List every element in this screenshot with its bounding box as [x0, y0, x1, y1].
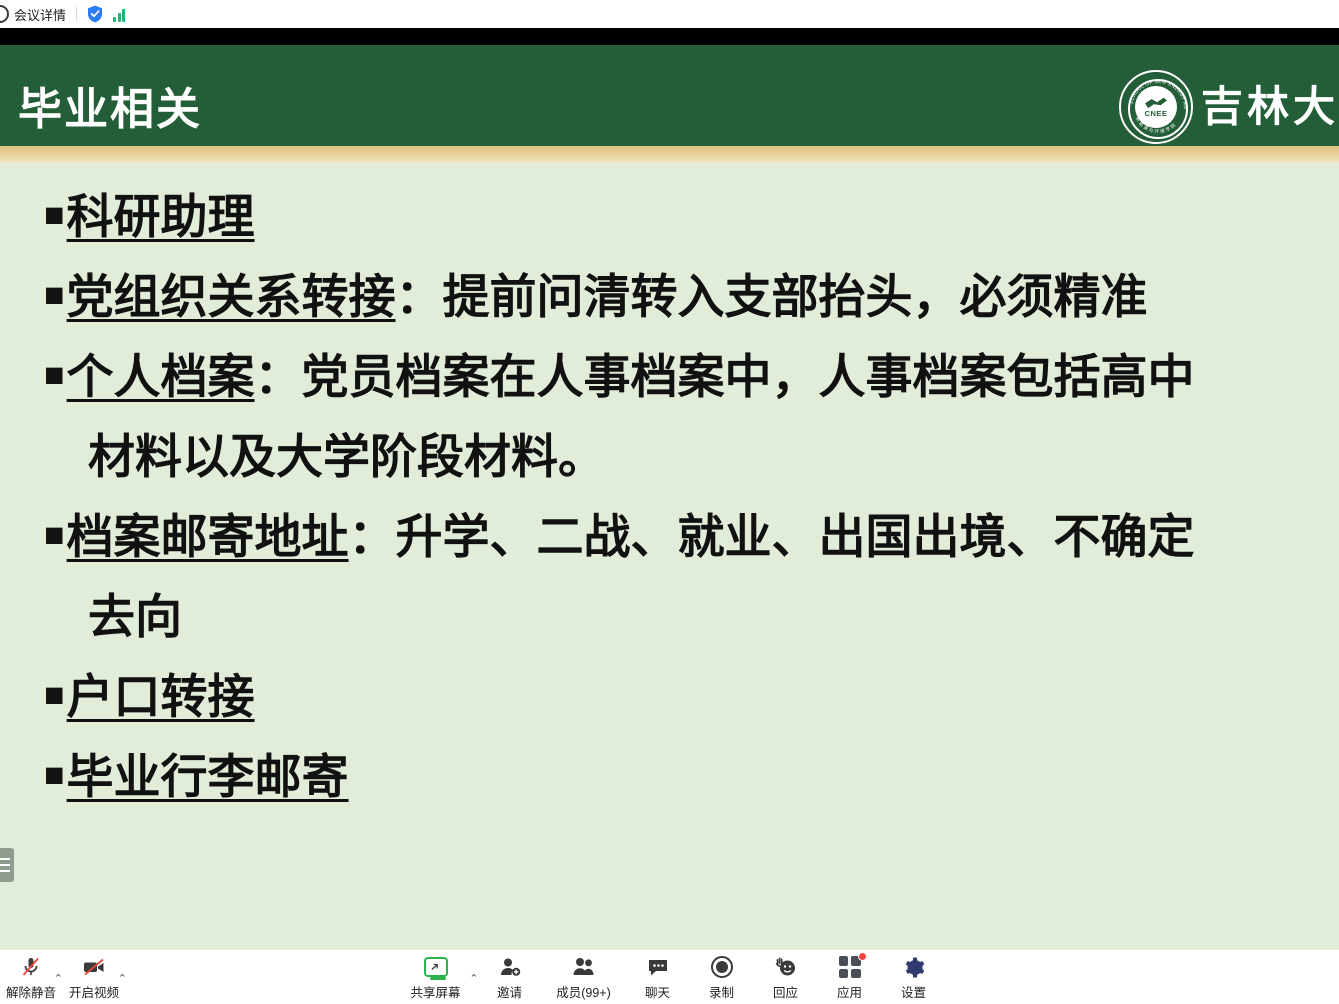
bird-emblem-icon: [1145, 97, 1167, 109]
mute-button-label: 解除静音: [6, 982, 56, 1001]
apps-button[interactable]: 应用: [818, 950, 882, 1004]
bullet-line: ■ 毕业行李邮寄: [44, 753, 1339, 800]
shield-check-icon[interactable]: [87, 5, 103, 23]
apps-notification-badge: [858, 952, 867, 961]
chat-button[interactable]: 聊天: [626, 950, 690, 1004]
meeting-details-label[interactable]: 会议详情: [14, 5, 66, 24]
bullet-line: ■ 户口转接: [44, 673, 1339, 720]
start-video-button-label: 开启视频: [69, 982, 119, 1001]
toolbar-center-group: ➔ 共享屏幕 ⌃ 邀请: [394, 950, 946, 1004]
invite-button[interactable]: 邀请: [478, 950, 542, 1004]
microphone-muted-icon: [19, 954, 43, 980]
apps-button-label: 应用: [837, 982, 862, 1001]
mute-button[interactable]: 解除静音 ⌃: [0, 950, 62, 1004]
chat-bubble-icon: [646, 954, 670, 980]
bullet-rest: 去向: [88, 593, 182, 640]
share-screen-button[interactable]: ➔ 共享屏幕 ⌃: [394, 950, 478, 1004]
slide-title: 毕业相关: [18, 88, 202, 132]
bullet-rest: ：升学、二战、就业、出国出境、不确定: [349, 513, 1195, 560]
reaction-icon: [774, 954, 798, 980]
slide-gold-stripe: [0, 146, 1339, 163]
bullet-key: 户口转接: [67, 673, 255, 720]
reaction-button[interactable]: 回应: [754, 950, 818, 1004]
bullet-marker: ■: [44, 273, 65, 319]
gear-icon: [902, 954, 925, 980]
bullet-key: 个人档案: [67, 353, 255, 400]
bullet-marker: ■: [44, 753, 65, 799]
bullet-marker: ■: [44, 513, 65, 559]
bullet-rest: ：党员档案在人事档案中，人事档案包括高中: [255, 353, 1195, 400]
bullet-marker: ■: [44, 673, 65, 719]
bullet-marker: ■: [44, 193, 65, 239]
bullet-key: 科研助理: [67, 193, 255, 240]
seal-text: CNEE: [1145, 110, 1168, 118]
settings-button[interactable]: 设置: [882, 950, 946, 1004]
bullet-marker: ■: [44, 353, 65, 399]
participants-button[interactable]: 成员(99+): [542, 950, 626, 1004]
bullet-continuation-line: 材料以及大学阶段材料。: [44, 433, 1339, 480]
slide-top-black-bar: [0, 28, 1339, 45]
bullet-key: 党组织关系转接: [67, 273, 396, 320]
participants-button-label: 成员(99+): [556, 982, 611, 1001]
bullet-key: 毕业行李邮寄: [67, 753, 349, 800]
top-bar: 会议详情: [0, 0, 1339, 28]
bullet-line: ■ 个人档案 ：党员档案在人事档案中，人事档案包括高中: [44, 353, 1339, 400]
user-avatar-icon: [0, 5, 9, 23]
meeting-toolbar: 解除静音 ⌃ 开启视频 ⌃ ➔: [0, 950, 1339, 1004]
share-screen-icon: ➔: [424, 954, 448, 980]
share-screen-button-label: 共享屏幕: [410, 982, 460, 1001]
bullet-line: ■ 党组织关系转接 ：提前问清转入支部抬头，必须精准: [44, 273, 1339, 320]
start-video-button[interactable]: 开启视频 ⌃: [62, 950, 126, 1004]
camera-off-icon: [81, 954, 107, 980]
bullet-rest: 材料以及大学阶段材料。: [88, 433, 605, 480]
participants-icon: [571, 954, 597, 980]
bullet-rest: ：提前问清转入支部抬头，必须精准: [396, 273, 1148, 320]
record-icon: [710, 954, 734, 980]
bullet-continuation-line: 去向: [44, 593, 1339, 640]
chat-button-label: 聊天: [645, 982, 670, 1001]
university-logo: SCHOOL OF NEW ENERGY AND ENVIRONMENT 新能源…: [1119, 70, 1339, 144]
shared-slide: 毕业相关 SCHOOL OF NEW ENERGY AND ENVIRONMEN…: [0, 28, 1339, 950]
invite-button-label: 邀请: [497, 982, 522, 1001]
bullet-line: ■ 科研助理: [44, 193, 1339, 240]
bullet-key: 档案邮寄地址: [67, 513, 349, 560]
toolbar-divider: [76, 7, 77, 21]
meeting-screen-share-view: 会议详情 毕业相关 SCHOOL OF NEW ENERGY: [0, 0, 1339, 1004]
invite-user-icon: [498, 954, 522, 980]
university-seal-icon: SCHOOL OF NEW ENERGY AND ENVIRONMENT 新能源…: [1119, 70, 1193, 144]
record-button-label: 录制: [709, 982, 734, 1001]
university-name: 吉林大: [1201, 86, 1339, 128]
signal-bars-icon[interactable]: [113, 6, 129, 22]
settings-button-label: 设置: [901, 982, 926, 1001]
toolbar-left-group: 解除静音 ⌃ 开启视频 ⌃: [0, 950, 126, 1004]
bullet-line: ■ 档案邮寄地址 ：升学、二战、就业、出国出境、不确定: [44, 513, 1339, 560]
seal-inner: CNEE: [1135, 86, 1177, 128]
panel-toggle-icon[interactable]: [0, 848, 14, 882]
slide-body: ■ 科研助理 ■ 党组织关系转接 ：提前问清转入支部抬头，必须精准 ■ 个人档案…: [0, 163, 1339, 950]
record-button[interactable]: 录制: [690, 950, 754, 1004]
video-options-chevron-up-icon[interactable]: ⌃: [118, 974, 127, 985]
reaction-button-label: 回应: [773, 982, 798, 1001]
